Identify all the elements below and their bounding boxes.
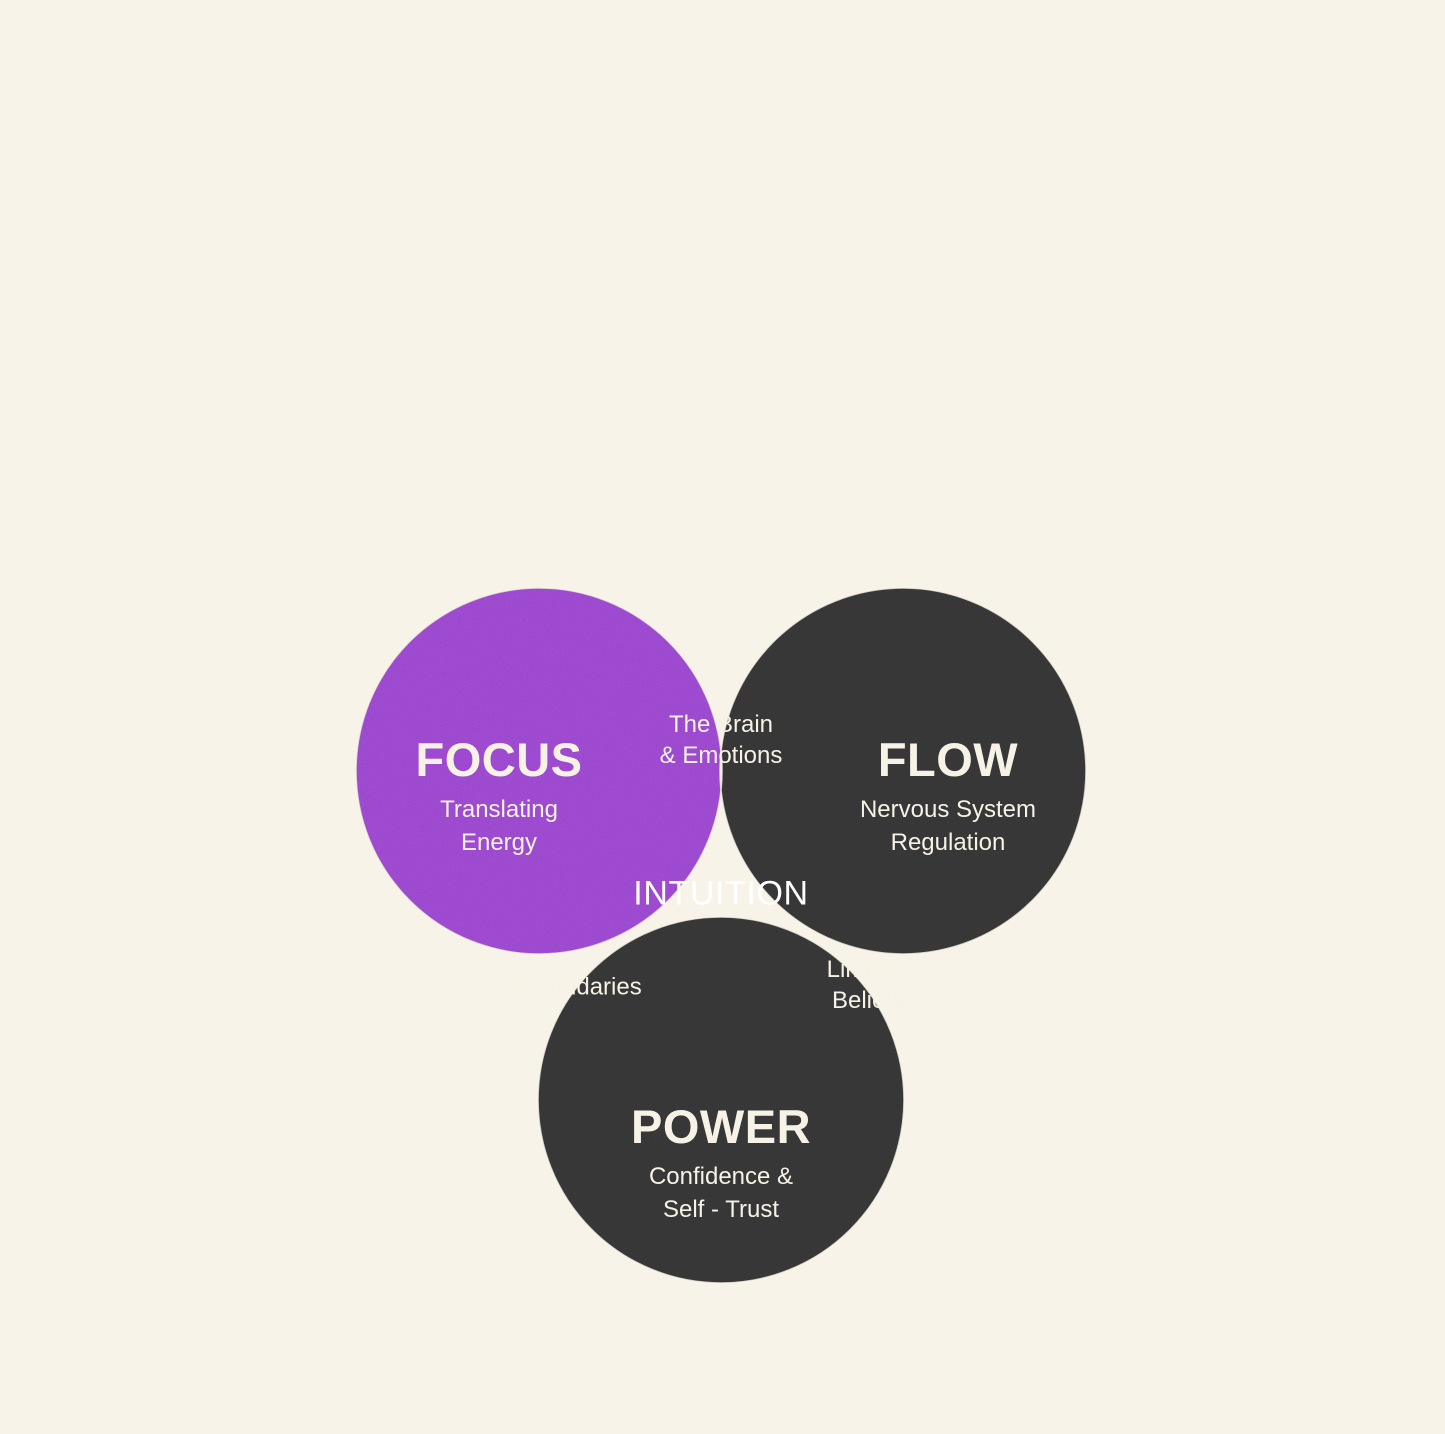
- venn-label-power-title: POWER: [631, 1103, 811, 1150]
- venn-intersection-focus-power: Boundaries: [520, 971, 641, 1002]
- poster-canvas: Self-Guided The Intuition Activation Met…: [0, 0, 1445, 1434]
- venn-intersection-flow-power-line-2: Beliefs: [827, 985, 910, 1016]
- venn-label-focus-sub-1: Translating: [416, 795, 583, 826]
- venn-diagram: FOCUS Translating Energy FLOW Nervous Sy…: [0, 0, 1445, 1434]
- venn-intersection-focus-flow-line-2: & Emotions: [660, 740, 783, 771]
- venn-intersection-focus-flow: The Brain & Emotions: [660, 709, 783, 771]
- venn-label-flow-sub-2: Regulation: [860, 828, 1036, 859]
- venn-intersection-flow-power-line-1: Limiting: [827, 954, 910, 985]
- venn-center-label: INTUITION: [633, 875, 808, 914]
- venn-label-flow: FLOW Nervous System Regulation: [860, 736, 1036, 858]
- venn-label-flow-title: FLOW: [860, 736, 1036, 783]
- venn-label-focus-sub-2: Energy: [416, 828, 583, 859]
- venn-label-focus-title: FOCUS: [416, 736, 583, 783]
- venn-label-layer: FOCUS Translating Energy FLOW Nervous Sy…: [0, 0, 1445, 1434]
- venn-intersection-focus-flow-line-1: The Brain: [660, 709, 783, 740]
- venn-label-power-sub-2: Self - Trust: [631, 1195, 811, 1226]
- venn-intersection-focus-power-line-1: Boundaries: [520, 971, 641, 1002]
- venn-label-power: POWER Confidence & Self - Trust: [631, 1103, 811, 1225]
- venn-label-power-sub-1: Confidence &: [631, 1162, 811, 1193]
- venn-label-focus: FOCUS Translating Energy: [416, 736, 583, 858]
- venn-intersection-flow-power: Limiting Beliefs: [827, 954, 910, 1016]
- venn-label-flow-sub-1: Nervous System: [860, 795, 1036, 826]
